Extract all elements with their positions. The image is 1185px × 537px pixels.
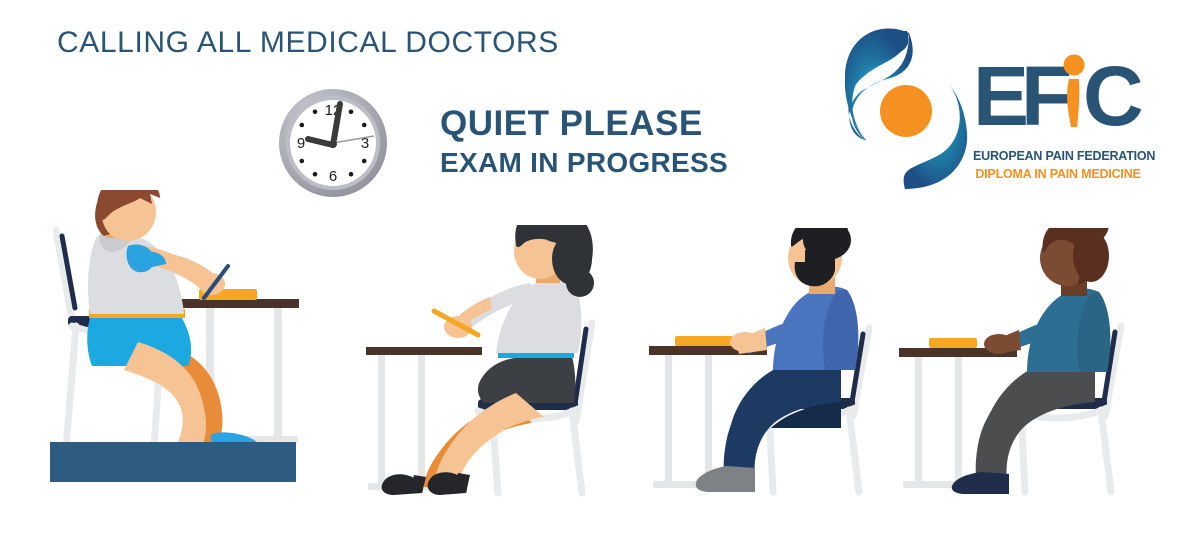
figure-student-woman-blue-skirt — [42, 190, 332, 490]
trousers-4 — [980, 370, 1095, 482]
body-1 — [87, 190, 259, 482]
figure-student-woman-dark-hair — [360, 225, 610, 505]
hand-3 — [730, 332, 760, 352]
students-illustration — [0, 0, 1185, 537]
book-4 — [929, 338, 977, 348]
desk-2 — [366, 347, 482, 490]
body-4 — [952, 228, 1111, 494]
body-2 — [382, 225, 594, 495]
figure-student-woman-bun-hair — [895, 228, 1135, 503]
exam-banner: CALLING ALL MEDICAL DOCTORS 12 3 6 9 — [0, 0, 1185, 537]
shoe-3 — [696, 466, 755, 492]
skirt-2 — [478, 357, 575, 403]
platform-1 — [50, 442, 296, 482]
book-3 — [675, 336, 733, 346]
figure-student-man-blue-sweater — [645, 228, 885, 503]
body-3 — [696, 228, 859, 492]
hand-4 — [984, 334, 1014, 354]
